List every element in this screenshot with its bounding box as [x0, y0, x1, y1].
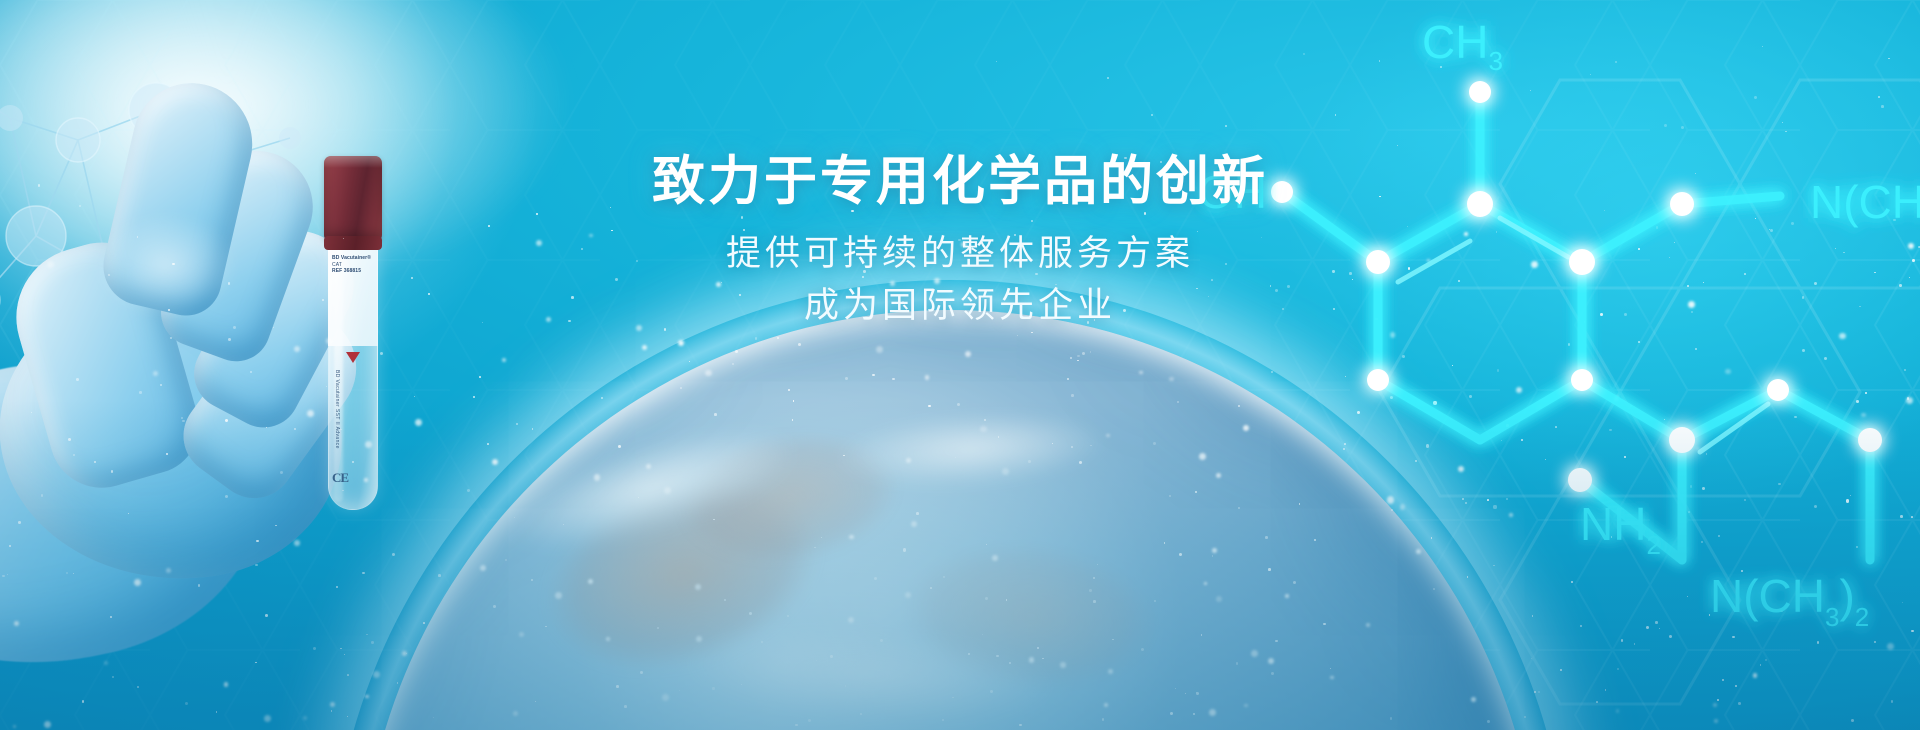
- label-nch3-top: N(CH: [1810, 176, 1920, 228]
- label-ch3-main: CH: [1422, 16, 1488, 68]
- label-ch3-sub: 3: [1488, 46, 1502, 76]
- glove-highlight: [66, 190, 266, 340]
- tube-cap: [324, 156, 382, 242]
- tube-label-brand: BD Vacutainer®: [332, 255, 374, 262]
- label-ch3: CH3: [1422, 16, 1503, 76]
- bottom-shade: [0, 400, 1920, 730]
- tube-fill-arrow-icon: [346, 352, 360, 363]
- tube-printed-label: BD Vacutainer® CAT REF 368815: [328, 250, 378, 346]
- tube-cap-ring: [324, 236, 382, 250]
- hero-banner: BD Vacutainer® CAT REF 368815 BD Vacutai…: [0, 0, 1920, 730]
- tube-label-ref: REF 368815: [332, 268, 374, 275]
- label-oh: OH: [1198, 166, 1267, 218]
